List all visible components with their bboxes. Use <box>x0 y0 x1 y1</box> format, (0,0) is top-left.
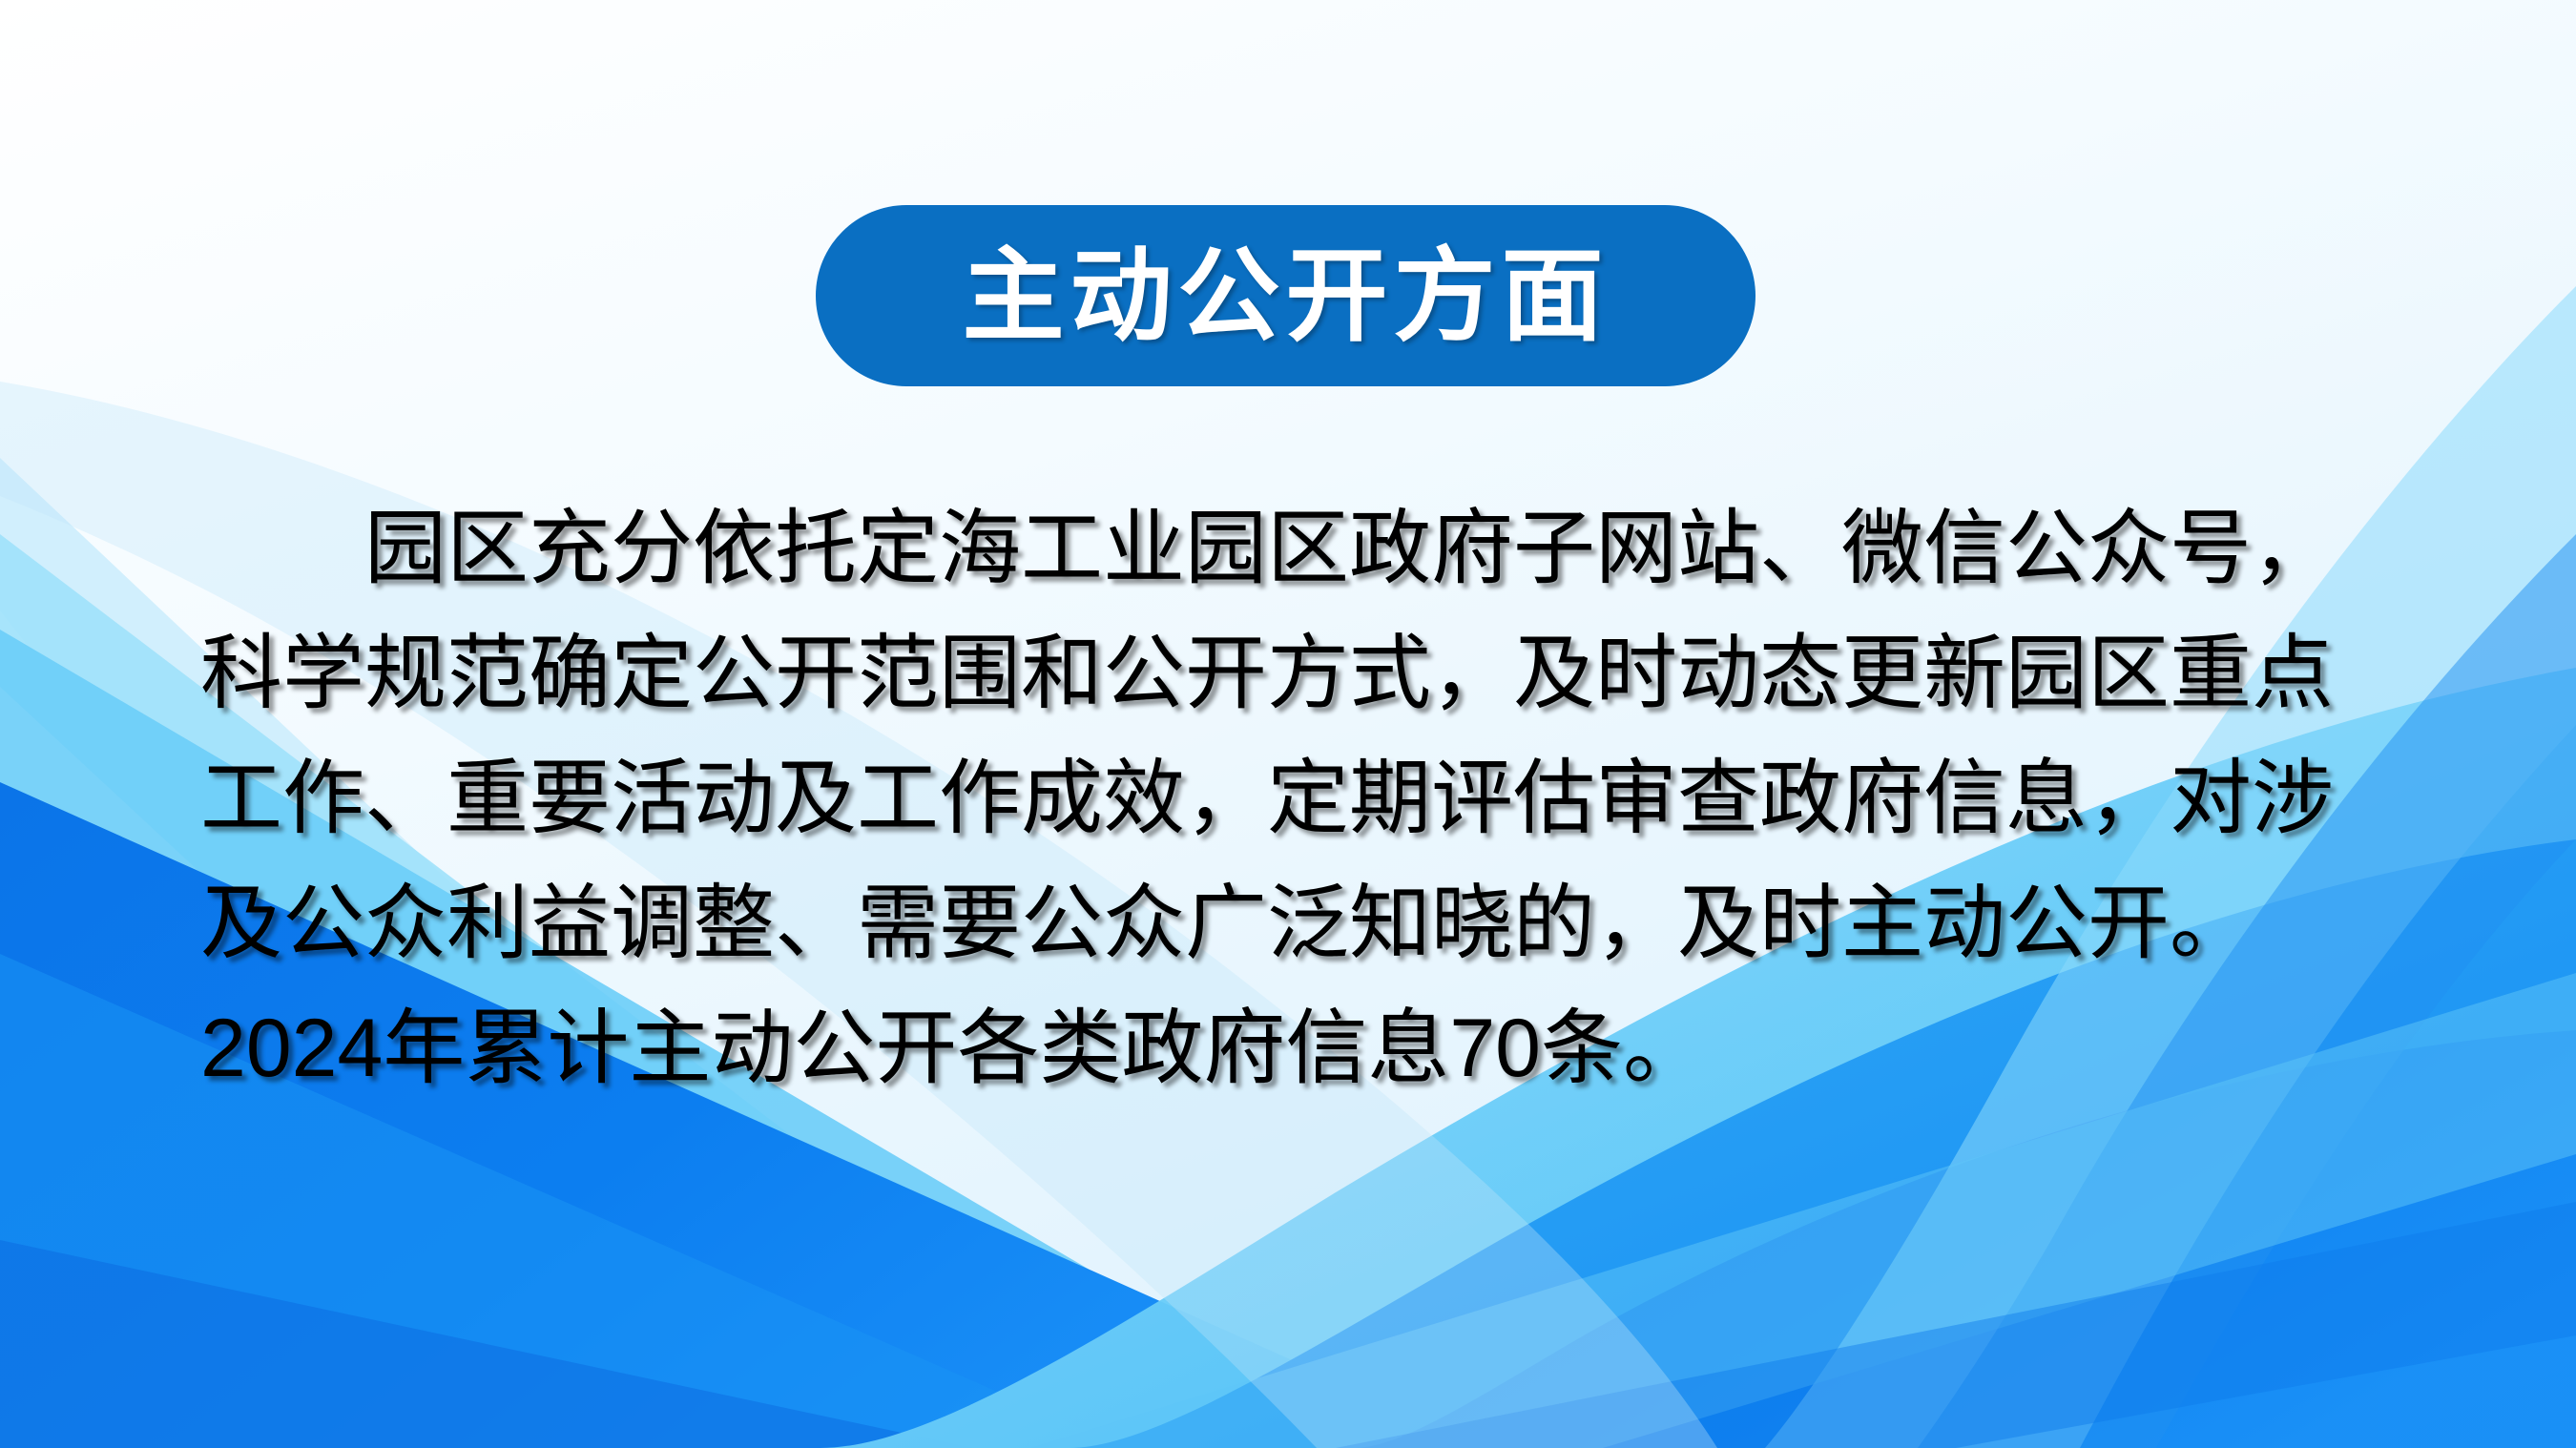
body-line-3: 工作、重要活动及工作成效，定期评估审查政府信息，对涉 <box>200 736 2414 861</box>
wave-mass-lower-left-shadow <box>0 1240 973 1448</box>
body-line-1: 园区充分依托定海工业园区政府子网站、微信公众号， <box>200 486 2414 611</box>
wave-sheet-diagonal-2 <box>1336 1202 2576 1448</box>
section-title-pill: 主动公开方面 <box>816 205 1755 386</box>
section-title-text: 主动公开方面 <box>962 245 1609 347</box>
body-line-4: 及公众利益调整、需要公众广泛知晓的，及时主动公开。 <box>200 861 2414 986</box>
body-paragraph: 园区充分依托定海工业园区政府子网站、微信公众号， 科学规范确定公开范围和公开方式… <box>200 486 2414 1111</box>
body-line-5: 2024年累计主动公开各类政府信息70条。 <box>200 986 2414 1111</box>
body-line-2: 科学规范确定公开范围和公开方式，及时动态更新园区重点 <box>200 611 2414 736</box>
slide-canvas: 主动公开方面 园区充分依托定海工业园区政府子网站、微信公众号， 科学规范确定公开… <box>0 0 2576 1448</box>
